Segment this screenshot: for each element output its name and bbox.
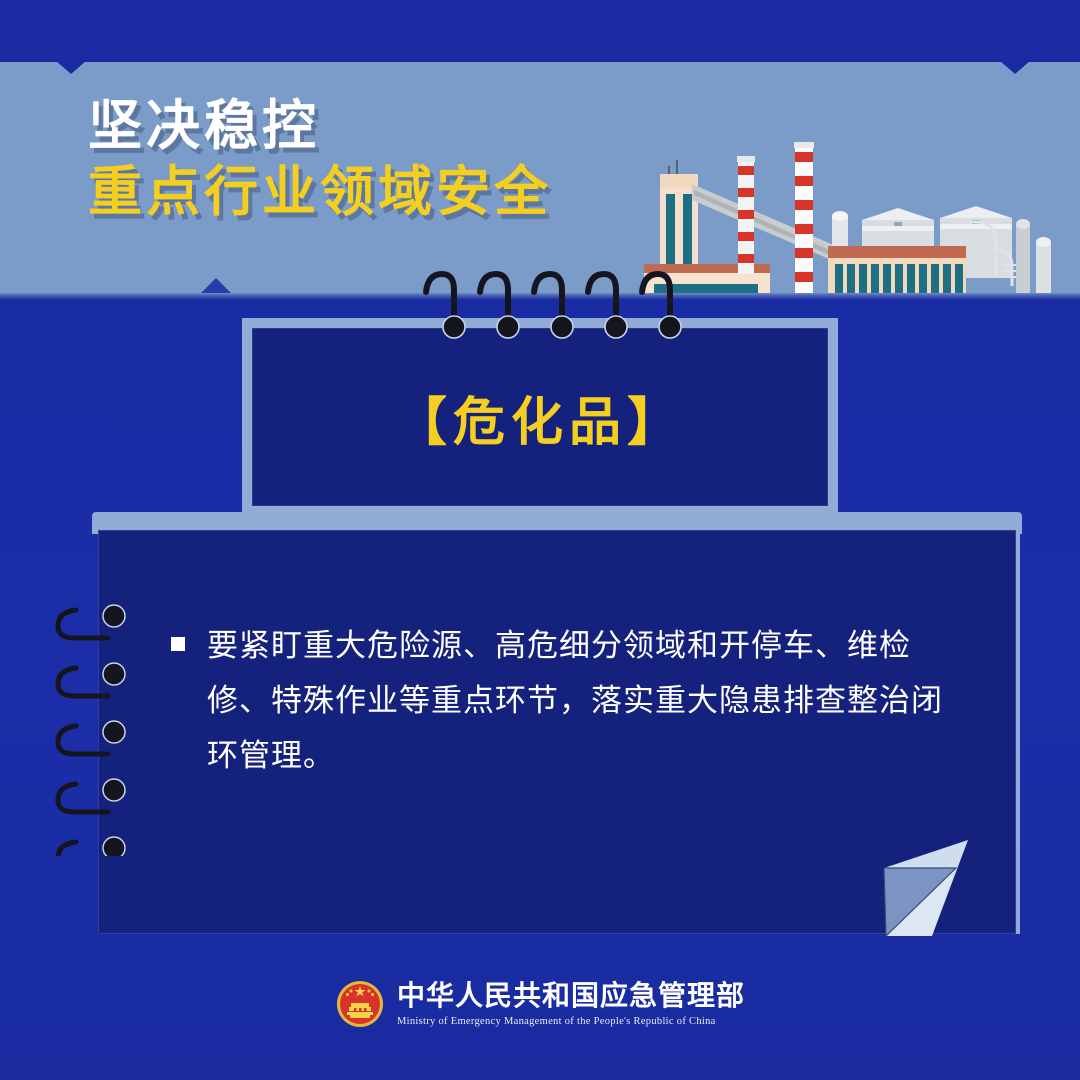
footer-org-cn: 中华人民共和国应急管理部 (397, 981, 745, 1012)
top-band (0, 0, 1080, 62)
footer: 中华人民共和国应急管理部 Ministry of Emergency Manag… (0, 968, 1080, 1040)
poster-root: 坚决稳控 重点行业领域安全 【危化品】 要紧盯重大危险源、高危细分领域和开停车、… (0, 0, 1080, 1080)
spiral-binding-left (52, 596, 152, 856)
footer-text-group: 中华人民共和国应急管理部 Ministry of Emergency Manag… (397, 981, 745, 1027)
china-national-emblem-icon (335, 979, 385, 1029)
spiral-binding-top (410, 268, 690, 348)
title-card-inner: 【危化品】 (253, 329, 827, 505)
bullet-item: 要紧盯重大危险源、高危细分领域和开停车、维检修、特殊作业等重点环节，落实重大隐患… (171, 619, 951, 785)
bullet-square-icon (171, 637, 185, 651)
page-fold-corner-icon (838, 840, 968, 940)
footer-org-en: Ministry of Emergency Management of the … (397, 1016, 745, 1027)
bullet-body-text: 要紧盯重大危险源、高危细分领域和开停车、维检修、特殊作业等重点环节，落实重大隐患… (207, 619, 951, 785)
headline-line-1: 坚决稳控 (88, 96, 552, 156)
headline-group: 坚决稳控 重点行业领域安全 (88, 96, 552, 223)
headline-line-2: 重点行业领域安全 (88, 162, 552, 222)
chemical-factory-illustration (640, 116, 1060, 298)
title-card-label: 【危化品】 (395, 380, 685, 455)
